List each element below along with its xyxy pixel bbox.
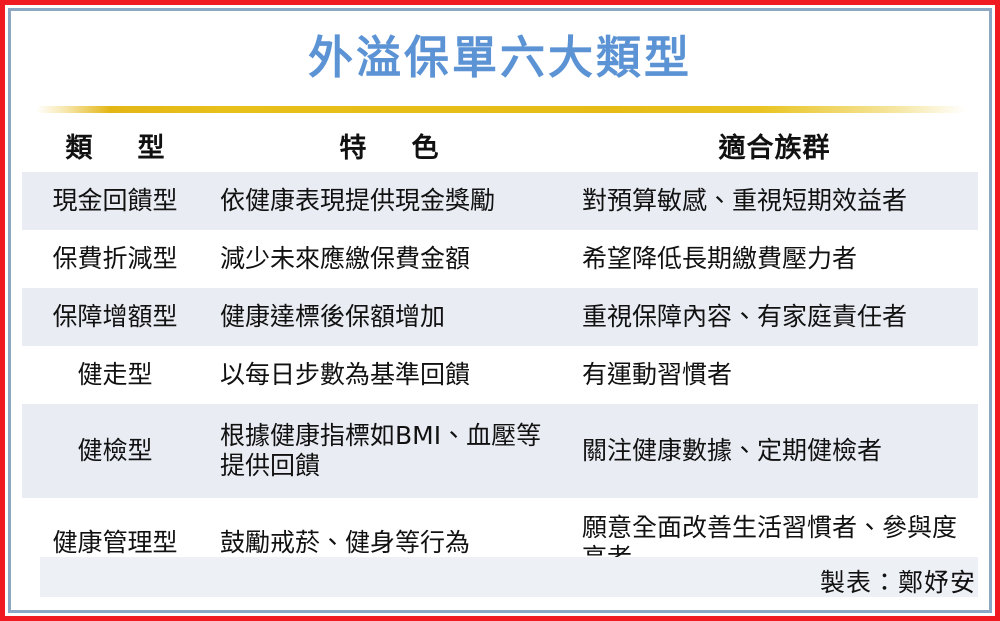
cell-feature: 減少未來應繳保費金額	[208, 230, 570, 288]
column-header-type-label: 類 型	[57, 126, 174, 165]
cell-type: 保費折減型	[22, 230, 208, 288]
cell-group: 關注健康數據、定期健檢者	[570, 404, 978, 498]
infographic-root: 外溢保單六大類型 類 型 特 色 適合族群 現金回饋型	[0, 0, 1000, 621]
gold-divider-bar	[36, 106, 966, 113]
cell-group: 對預算敏感、重視短期效益者	[570, 172, 978, 230]
column-header-feature-label: 特 色	[331, 126, 448, 165]
table-header: 類 型 特 色 適合族群	[22, 118, 978, 172]
column-header-group: 適合族群	[570, 118, 978, 172]
cell-feature: 根據健康指標如BMI、血壓等提供回饋	[208, 404, 570, 498]
table-row: 健走型 以每日步數為基準回饋 有運動習慣者	[22, 346, 978, 404]
cell-type: 保障增額型	[22, 288, 208, 346]
cell-feature: 依健康表現提供現金獎勵	[208, 172, 570, 230]
column-header-group-label: 適合族群	[718, 126, 831, 165]
credit-label: 製表：鄭妤安	[820, 563, 976, 599]
table-body: 現金回饋型 依健康表現提供現金獎勵 對預算敏感、重視短期效益者 保費折減型 減少…	[22, 172, 978, 588]
cell-group: 重視保障內容、有家庭責任者	[570, 288, 978, 346]
column-header-feature: 特 色	[208, 118, 570, 172]
table-row: 保障增額型 健康達標後保額增加 重視保障內容、有家庭責任者	[22, 288, 978, 346]
table-row: 現金回饋型 依健康表現提供現金獎勵 對預算敏感、重視短期效益者	[22, 172, 978, 230]
cell-group: 希望降低長期繳費壓力者	[570, 230, 978, 288]
table-row: 健檢型 根據健康指標如BMI、血壓等提供回饋 關注健康數據、定期健檢者	[22, 404, 978, 498]
column-header-type: 類 型	[22, 118, 208, 172]
cell-type: 現金回饋型	[22, 172, 208, 230]
policy-type-table: 類 型 特 色 適合族群 現金回饋型 依健康表現提供現金獎勵 對預算敏感、重視短…	[22, 118, 978, 588]
cell-feature: 以每日步數為基準回饋	[208, 346, 570, 404]
cell-group: 有運動習慣者	[570, 346, 978, 404]
cell-type: 健走型	[22, 346, 208, 404]
title-area: 外溢保單六大類型	[14, 22, 986, 92]
table-row: 保費折減型 減少未來應繳保費金額 希望降低長期繳費壓力者	[22, 230, 978, 288]
table-header-row: 類 型 特 色 適合族群	[22, 118, 978, 172]
cell-type: 健檢型	[22, 404, 208, 498]
cell-feature: 健康達標後保額增加	[208, 288, 570, 346]
page-title: 外溢保單六大類型	[308, 35, 692, 80]
